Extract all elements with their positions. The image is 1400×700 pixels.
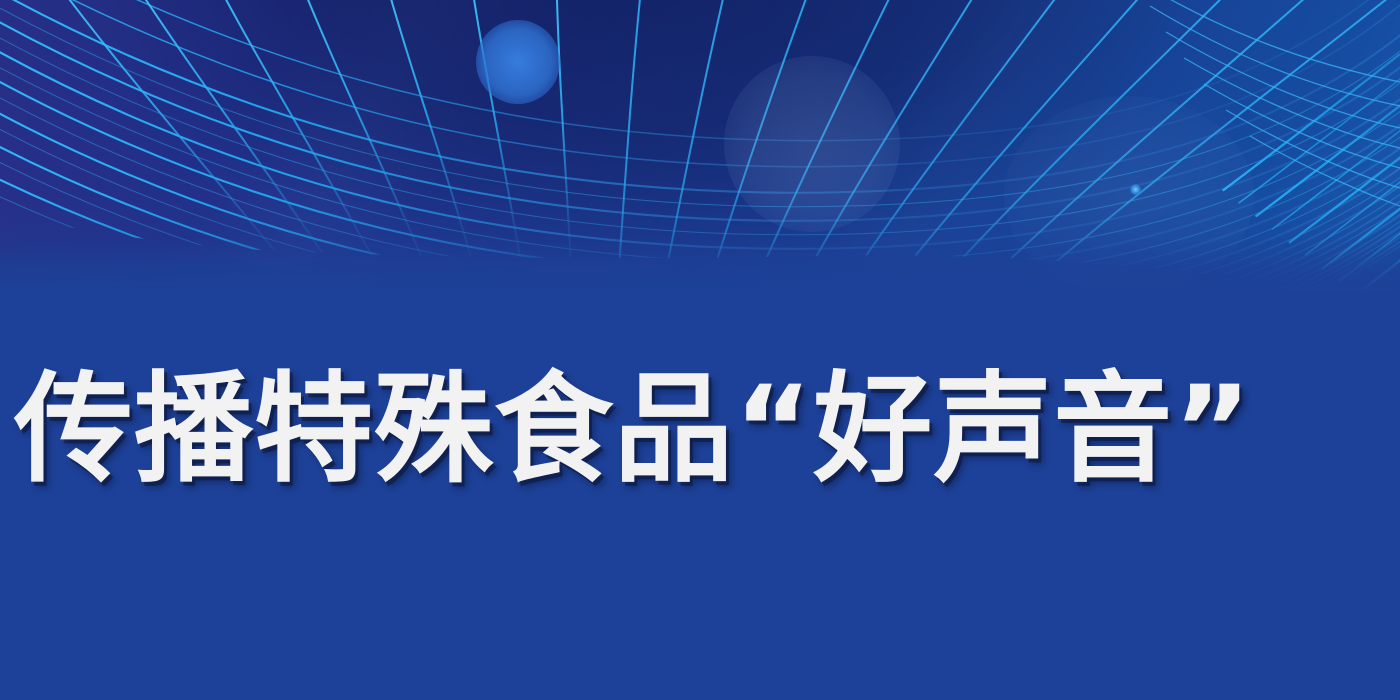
background-sheen-streaks [0, 0, 1400, 700]
background-fade-overlay [0, 0, 1400, 700]
banner-root: 传播特殊食品“好声音” [0, 0, 1400, 700]
spark-dot-icon [1130, 184, 1141, 195]
curved-wire-mesh-icon [0, 0, 1400, 700]
glow-circle [476, 20, 560, 104]
background-dark-bowl [0, 0, 1400, 700]
soft-glow-circle [724, 56, 900, 232]
banner-headline: 传播特殊食品“好声音” [14, 356, 1400, 506]
soft-glow-circle-right [1004, 96, 1254, 296]
background-gradient [0, 0, 1400, 700]
